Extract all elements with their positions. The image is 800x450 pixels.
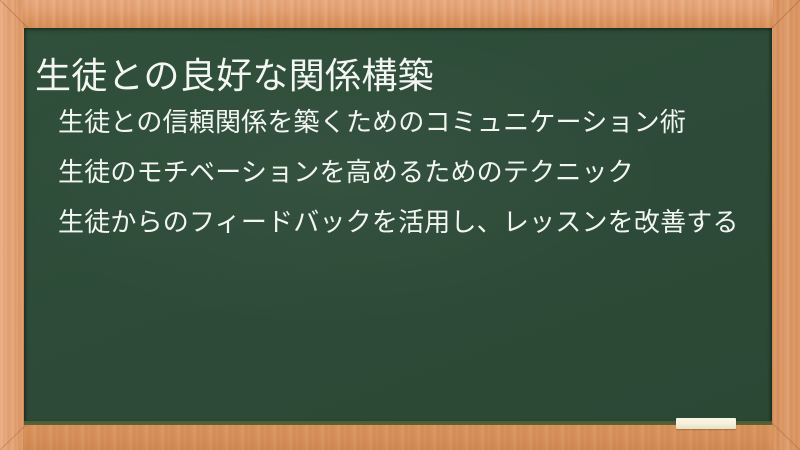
chalkboard-surface: 生徒との良好な関係構築 生徒との信頼関係を築くためのコミュニケーション術 生徒の…	[24, 28, 772, 424]
frame-rail-top	[0, 0, 800, 28]
bullet-list: 生徒との信頼関係を築くためのコミュニケーション術 生徒のモチベーションを高めるた…	[58, 103, 758, 243]
slide-title: 生徒との良好な関係構築	[35, 55, 735, 99]
bullet-item: 生徒との信頼関係を築くためのコミュニケーション術	[58, 103, 758, 143]
chalkboard-slide: 生徒との良好な関係構築 生徒との信頼関係を築くためのコミュニケーション術 生徒の…	[0, 0, 800, 450]
board-ledge	[24, 421, 772, 425]
bullet-item: 生徒のモチベーションを高めるためのテクニック	[58, 153, 758, 193]
chalk-stick-icon	[676, 418, 736, 429]
frame-rail-left	[0, 0, 23, 450]
bullet-item: 生徒からのフィードバックを活用し、レッスンを改善する	[58, 203, 758, 243]
frame-rail-right	[773, 0, 800, 450]
